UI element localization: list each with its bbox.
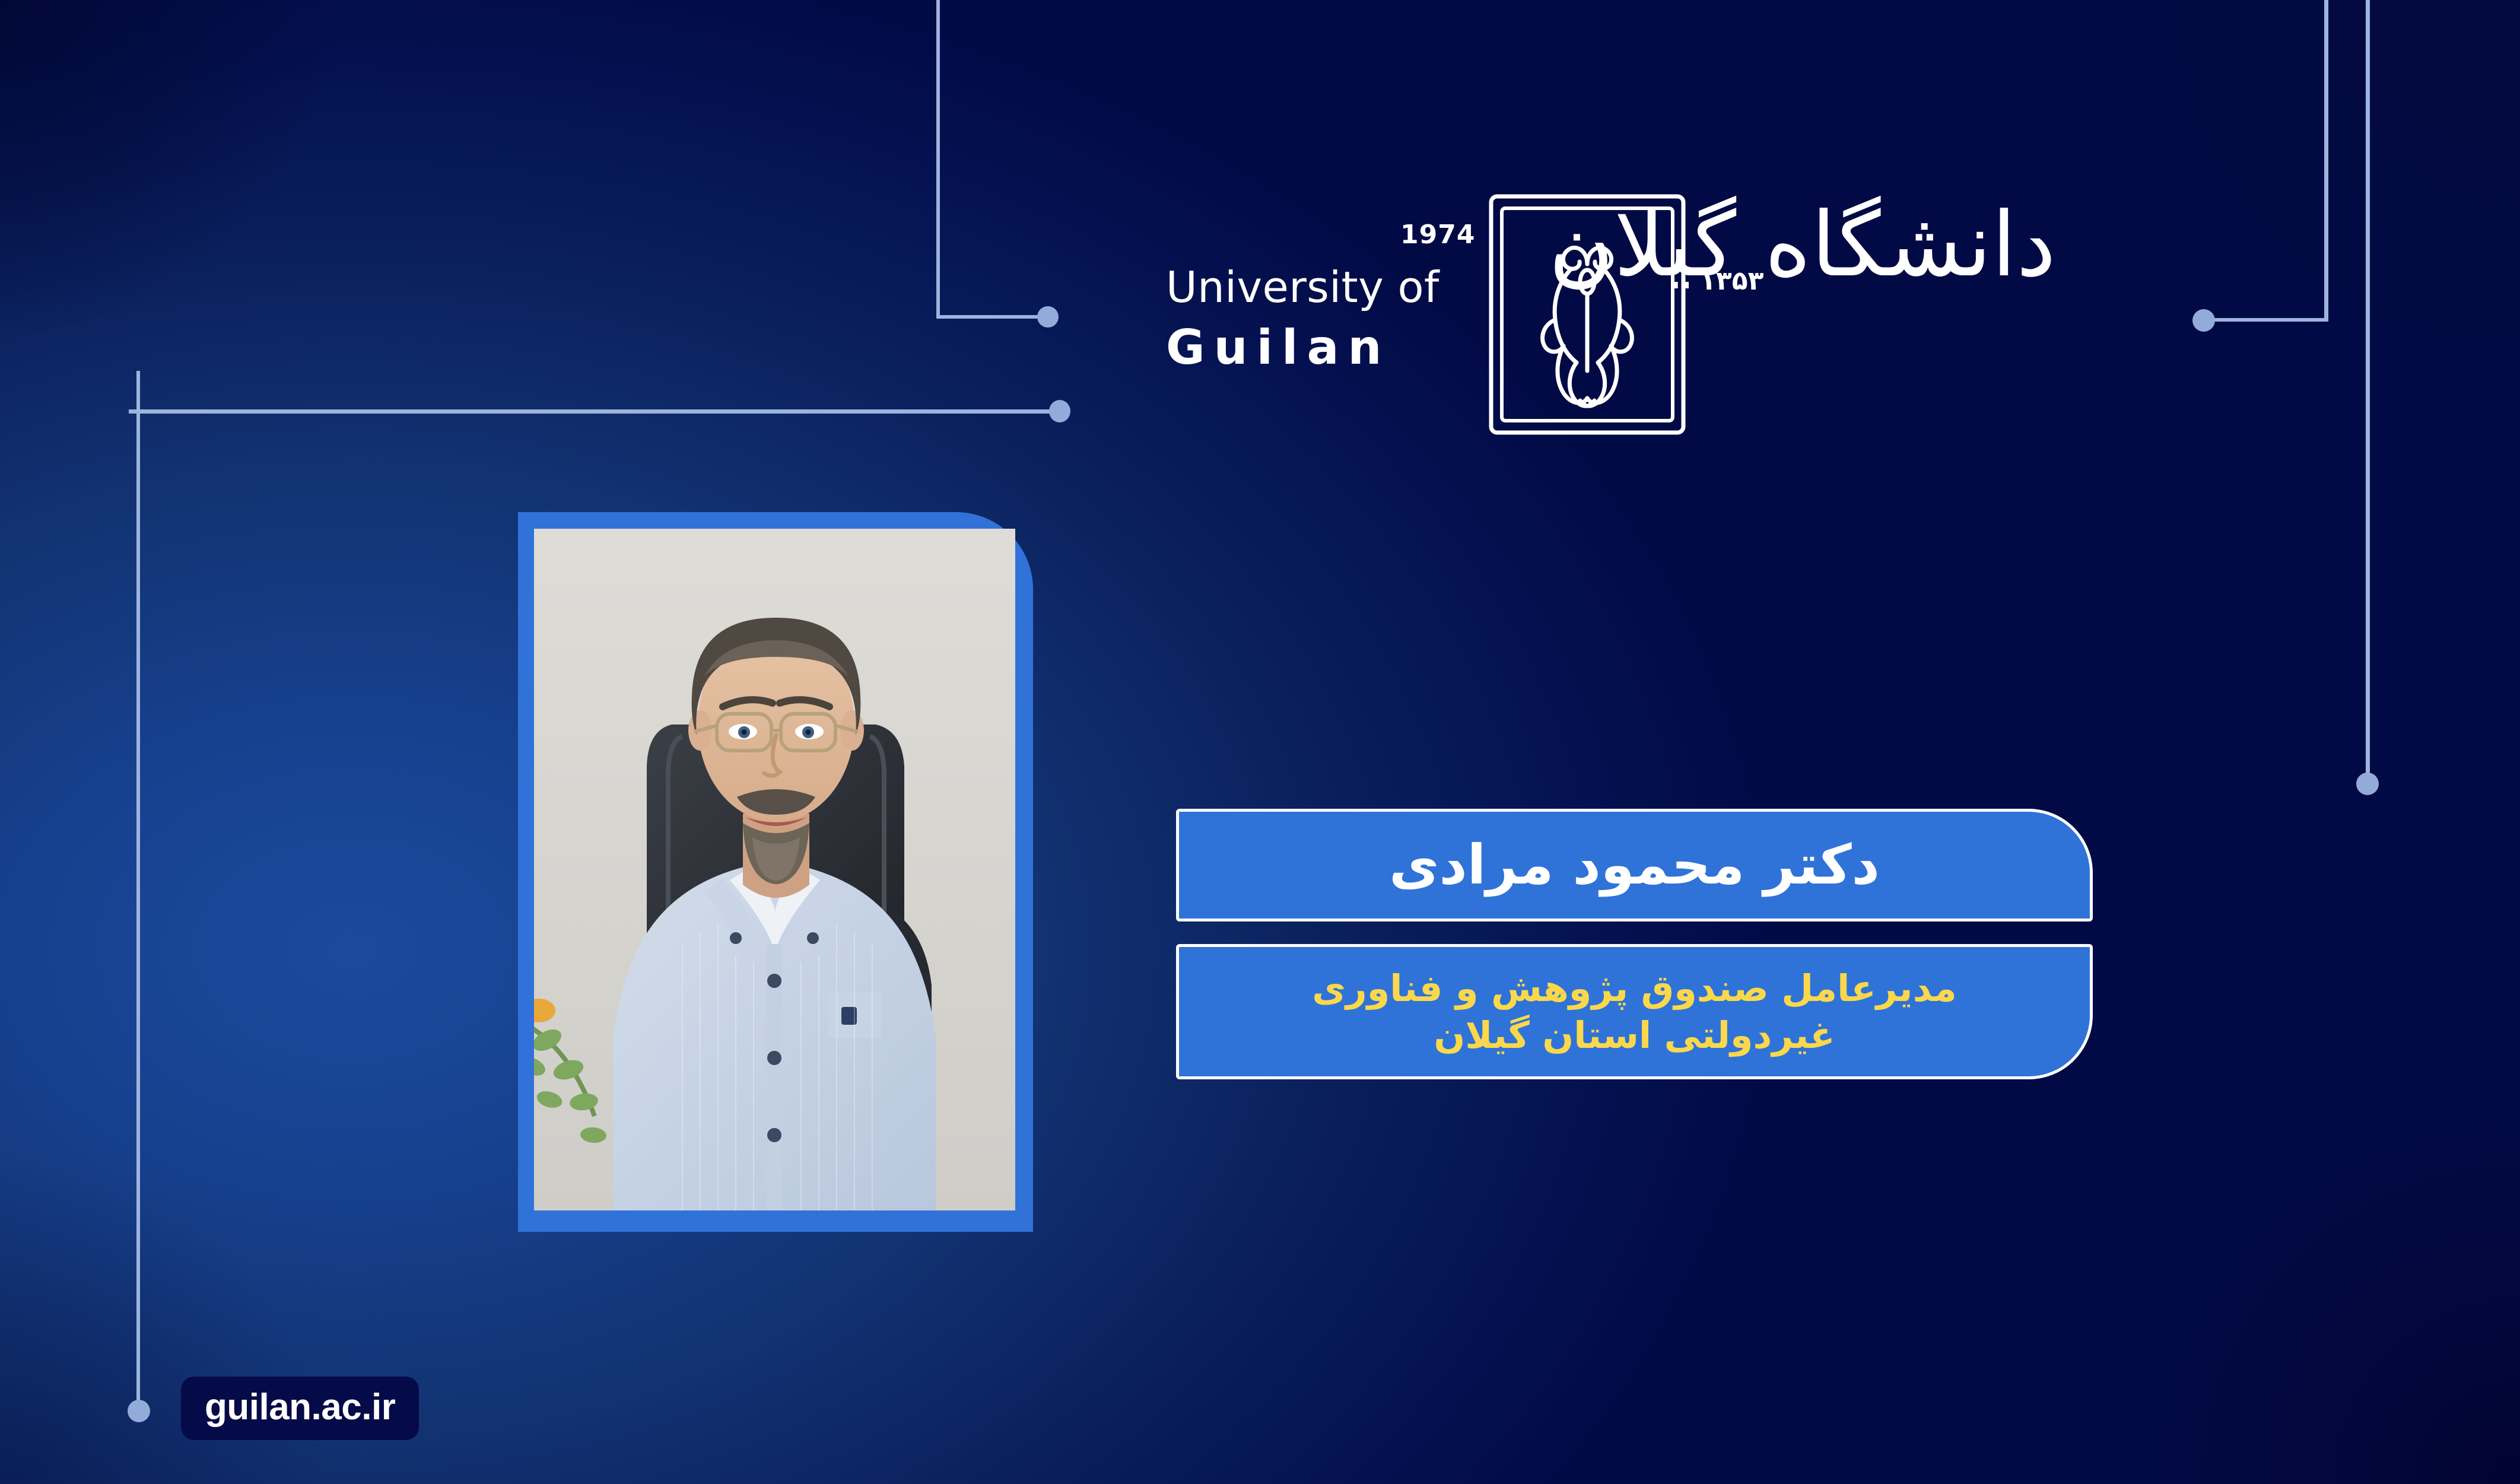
university-logo: University of Guilan 1974 ۱۳۵۳	[1166, 196, 2056, 439]
deco-dot-upper-right	[1049, 400, 1070, 422]
speaker-title-line2: غیردولتی استان گیلان	[1434, 1013, 1835, 1057]
logo-english-line1: University of	[1166, 266, 1474, 309]
deco-line-left-vertical	[136, 371, 140, 1403]
speaker-photo-illustration	[534, 529, 1015, 1210]
website-url: guilan.ac.ir	[205, 1387, 395, 1428]
portrait-frame	[518, 512, 1033, 1232]
deco-dot-right	[2356, 773, 2379, 795]
speaker-name-banner: دکتر محمود مرادی	[1176, 809, 2093, 921]
speaker-title-line1: مدیرعامل صندوق پژوهش و فناوری	[1312, 967, 1957, 1010]
deco-line-right-vertical	[2366, 0, 2370, 777]
logo-english-name: University of Guilan	[1166, 266, 1474, 371]
deco-line-top-right-inner-vertical	[2324, 0, 2328, 320]
speaker-title: مدیرعامل صندوق پژوهش و فناوری غیردولتی ا…	[1291, 965, 1978, 1059]
website-badge[interactable]: guilan.ac.ir	[181, 1377, 419, 1440]
speaker-name: دکتر محمود مرادی	[1389, 837, 1880, 894]
deco-line-top-vertical-left	[936, 0, 940, 317]
deco-line-top-right-horizontal	[2204, 318, 2328, 322]
poster-canvas: University of Guilan 1974 ۱۳۵۳	[0, 0, 2520, 1484]
logo-persian-name: دانشگاه گیلان	[1641, 201, 2056, 290]
deco-line-top-horizontal-left	[936, 315, 1044, 319]
speaker-photo	[534, 529, 1015, 1210]
deco-dot-top-right	[2192, 309, 2215, 332]
logo-english-line2: Guilan	[1166, 324, 1474, 371]
speaker-title-banner: مدیرعامل صندوق پژوهش و فناوری غیردولتی ا…	[1176, 944, 2093, 1079]
deco-dot-bottom-left	[128, 1400, 150, 1422]
logo-year-gregorian: 1974	[1400, 220, 1475, 250]
deco-line-upper-horizontal	[129, 409, 1060, 414]
deco-dot-top-left	[1037, 306, 1059, 328]
